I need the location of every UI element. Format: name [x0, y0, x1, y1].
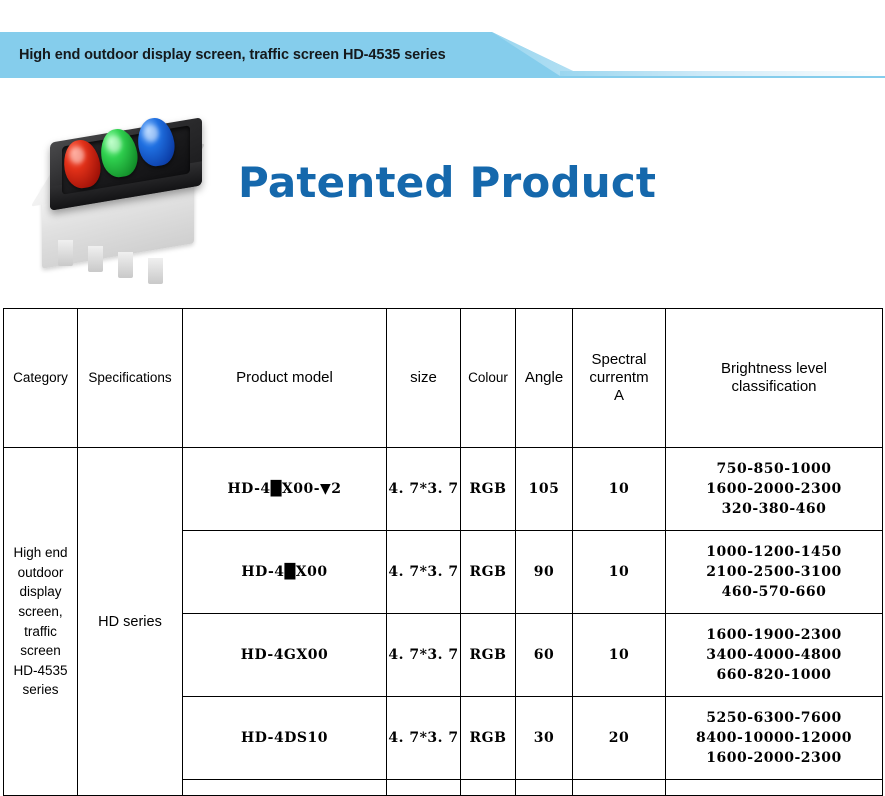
cell-product-model: HD-4█X00-▼2	[183, 448, 387, 531]
header-brightness-line-1: Brightness level	[667, 360, 881, 378]
cell-size: 4. 7*3. 7	[387, 614, 461, 697]
cell-product-model-empty	[183, 780, 387, 796]
cell-size-empty	[387, 780, 461, 796]
header-brightness-line-2: classification	[667, 378, 881, 396]
specification-table: Category Specifications Product model si…	[3, 308, 883, 796]
cell-brightness-empty	[666, 780, 883, 796]
product-photo-stage	[22, 100, 237, 275]
cell-angle: 30	[516, 697, 573, 780]
table-row: High end outdoor display screen, traffic…	[4, 448, 883, 531]
cell-size: 4. 7*3. 7	[387, 531, 461, 614]
module-fin	[58, 240, 73, 266]
cell-angle: 105	[516, 448, 573, 531]
cell-brightness: 5250-6300-7600 8400-10000-12000 1600-200…	[666, 697, 883, 780]
header-angle: Angle	[516, 309, 573, 448]
cell-size: 4. 7*3. 7	[387, 697, 461, 780]
brightness-line: 1600-2000-2300	[667, 748, 881, 768]
cell-spectral-current: 20	[573, 697, 666, 780]
product-photo-rgb-led-module	[22, 100, 237, 275]
cell-colour: RGB	[461, 531, 516, 614]
header-specifications: Specifications	[78, 309, 183, 448]
header-spectral-line-3: A	[574, 387, 664, 405]
brightness-line: 460-570-660	[667, 582, 881, 602]
cell-size: 4. 7*3. 7	[387, 448, 461, 531]
category-line: traffic	[5, 622, 76, 642]
header-spectral-line-2: currentm	[574, 369, 664, 387]
brightness-line: 660-820-1000	[667, 665, 881, 685]
cell-colour-empty	[461, 780, 516, 796]
category-line: outdoor	[5, 563, 76, 583]
brightness-line: 1000-1200-1450	[667, 542, 881, 562]
specification-table-container: Category Specifications Product model si…	[3, 308, 882, 796]
table-header-row: Category Specifications Product model si…	[4, 309, 883, 448]
header-product-model: Product model	[183, 309, 387, 448]
brightness-line: 2100-2500-3100	[667, 562, 881, 582]
brightness-line: 750-850-1000	[667, 459, 881, 479]
cell-spectral-current-empty	[573, 780, 666, 796]
brightness-line: 1600-1900-2300	[667, 625, 881, 645]
cell-spectral-current: 10	[573, 614, 666, 697]
module-fin	[118, 252, 133, 278]
module-fin	[148, 258, 163, 284]
cell-colour: RGB	[461, 697, 516, 780]
cell-specifications: HD series	[78, 448, 183, 796]
module-fin	[88, 246, 103, 272]
cell-angle-empty	[516, 780, 573, 796]
category-line: HD-4535	[5, 661, 76, 681]
brightness-line: 5250-6300-7600	[667, 708, 881, 728]
cell-spectral-current: 10	[573, 531, 666, 614]
cell-product-model: HD-4█X00	[183, 531, 387, 614]
category-line: display	[5, 582, 76, 602]
brightness-line: 1600-2000-2300	[667, 479, 881, 499]
cell-colour: RGB	[461, 448, 516, 531]
cell-brightness: 1000-1200-1450 2100-2500-3100 460-570-66…	[666, 531, 883, 614]
header-spectral-line-1: Spectral	[574, 351, 664, 369]
header-category: Category	[4, 309, 78, 448]
cell-spectral-current: 10	[573, 448, 666, 531]
category-line: series	[5, 680, 76, 700]
header-size: size	[387, 309, 461, 448]
cell-product-model: HD-4DS10	[183, 697, 387, 780]
category-line: screen,	[5, 602, 76, 622]
banner-title: High end outdoor display screen, traffic…	[19, 32, 446, 78]
cell-product-model: HD-4GX00	[183, 614, 387, 697]
header-colour: Colour	[461, 309, 516, 448]
category-line: screen	[5, 641, 76, 661]
page-headline: Patented Product	[238, 158, 656, 207]
table-body: High end outdoor display screen, traffic…	[4, 448, 883, 796]
cell-brightness: 1600-1900-2300 3400-4000-4800 660-820-10…	[666, 614, 883, 697]
page-banner: High end outdoor display screen, traffic…	[0, 32, 885, 78]
cell-angle: 90	[516, 531, 573, 614]
header-brightness-level: Brightness level classification	[666, 309, 883, 448]
brightness-line: 3400-4000-4800	[667, 645, 881, 665]
brightness-line: 8400-10000-12000	[667, 728, 881, 748]
category-line: High end	[5, 543, 76, 563]
brightness-line: 320-380-460	[667, 499, 881, 519]
cell-angle: 60	[516, 614, 573, 697]
table-header: Category Specifications Product model si…	[4, 309, 883, 448]
cell-brightness: 750-850-1000 1600-2000-2300 320-380-460	[666, 448, 883, 531]
header-spectral-current: Spectral currentm A	[573, 309, 666, 448]
cell-category: High end outdoor display screen, traffic…	[4, 448, 78, 796]
cell-colour: RGB	[461, 614, 516, 697]
